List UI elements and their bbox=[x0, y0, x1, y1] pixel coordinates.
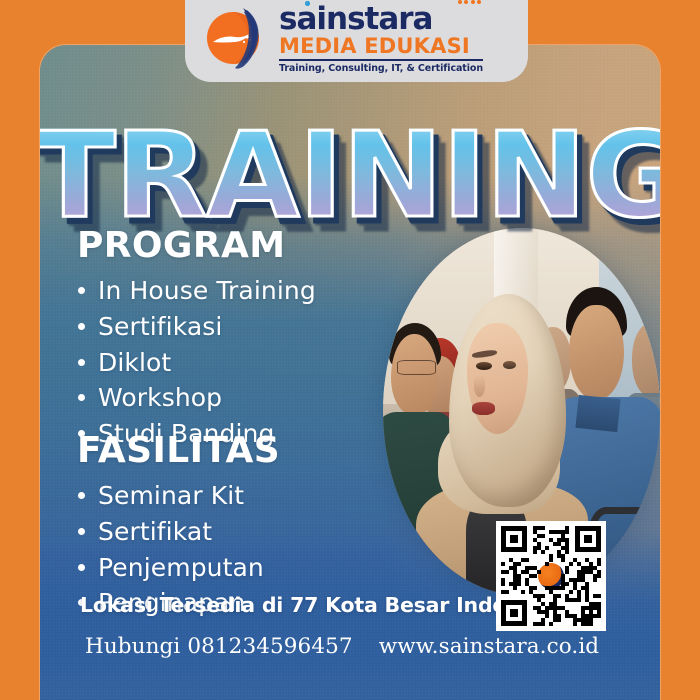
list-item: Penjemputan bbox=[76, 550, 264, 586]
brand-dots-icon bbox=[458, 0, 482, 4]
qr-code-grid bbox=[501, 526, 601, 626]
contact-row: Hubungi 081234596457 www.sainstara.co.id bbox=[85, 634, 599, 659]
list-item: Sertifikasi bbox=[76, 309, 316, 345]
qr-finder-top-right bbox=[575, 526, 601, 552]
brand-tagline: Training, Consulting, IT, & Certificatio… bbox=[279, 64, 483, 74]
brand-subtitle: MEDIA EDUKASI bbox=[279, 36, 483, 61]
list-item: Diklot bbox=[76, 345, 316, 381]
fasilitas-heading: FASILITAS bbox=[77, 430, 280, 471]
qr-finder-bottom-left bbox=[501, 600, 527, 626]
list-item: Workshop bbox=[76, 380, 316, 416]
brand-dot-i-icon bbox=[305, 1, 310, 6]
list-item: Sertifikat bbox=[76, 514, 264, 550]
brand-name: sainstara bbox=[279, 1, 432, 37]
website-link[interactable]: www.sainstara.co.id bbox=[379, 634, 599, 659]
list-item: Seminar Kit bbox=[76, 478, 264, 514]
program-list: In House Training Sertifikasi Diklot Wor… bbox=[76, 273, 316, 452]
logo-panel: sainstara MEDIA EDUKASI Training, Consul… bbox=[185, 0, 528, 82]
list-item: In House Training bbox=[76, 273, 316, 309]
brand-name-row: sainstara bbox=[279, 4, 483, 35]
phone-text: Hubungi 081234596457 bbox=[85, 634, 353, 659]
program-heading: PROGRAM bbox=[77, 225, 285, 266]
qr-code[interactable] bbox=[496, 521, 606, 631]
location-line: Lokasi Tersedia di 77 Kota Besar Indones… bbox=[80, 593, 567, 617]
logo-text-block: sainstara MEDIA EDUKASI Training, Consul… bbox=[279, 2, 483, 74]
qr-finder-top-left bbox=[501, 526, 527, 552]
sainstara-logo-mark-icon bbox=[203, 4, 271, 72]
